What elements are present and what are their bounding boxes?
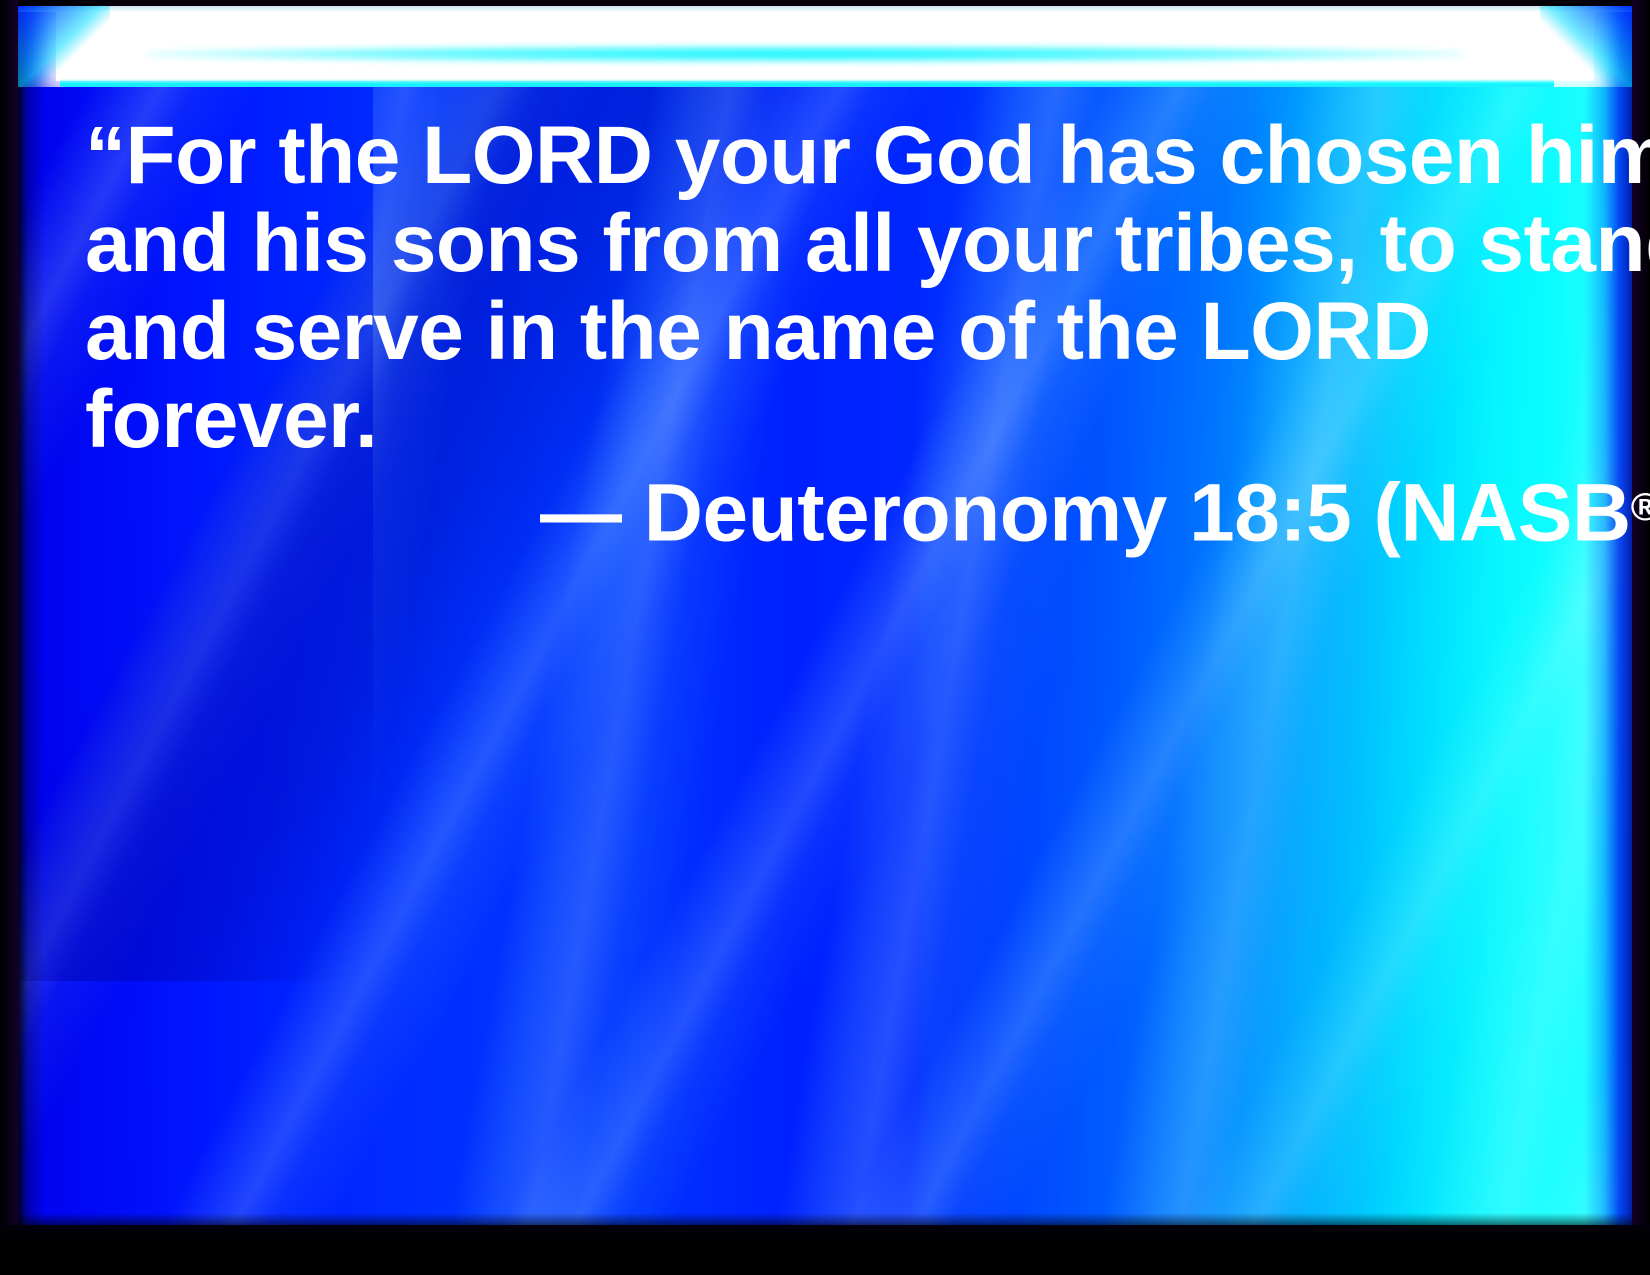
- verse-line-1: “For the LORD your God has chosen him: [85, 112, 1505, 200]
- attribution-dash: —: [540, 467, 622, 558]
- verse-attribution: — Deuteronomy 18:5 (NASB®): [540, 463, 1650, 557]
- header-glow-band: [18, 5, 1632, 87]
- frame-left-edge: [0, 0, 18, 1275]
- frame-top-edge: [0, 0, 1650, 6]
- registered-trademark-icon: ®: [1631, 485, 1650, 529]
- header-corner-left: [18, 5, 110, 87]
- attribution-translation: (NASB: [1374, 467, 1631, 558]
- header-cyan-underglow: [148, 45, 1462, 63]
- verse-line-4: forever.: [85, 376, 1505, 464]
- header-cyan-lip: [60, 79, 1554, 87]
- attribution-reference: 18:5: [1189, 467, 1351, 558]
- verse-line-2: and his sons from all your tribes, to st…: [85, 200, 1505, 288]
- verse-slide: “For the LORD your God has chosen him an…: [0, 0, 1650, 1275]
- frame-bottom-edge: [0, 1225, 1650, 1275]
- attribution-book: Deuteronomy: [644, 467, 1167, 558]
- header-corner-right: [1540, 5, 1632, 87]
- verse-line-3: and serve in the name of the LORD: [85, 288, 1505, 376]
- verse-text-block: “For the LORD your God has chosen him an…: [85, 112, 1505, 464]
